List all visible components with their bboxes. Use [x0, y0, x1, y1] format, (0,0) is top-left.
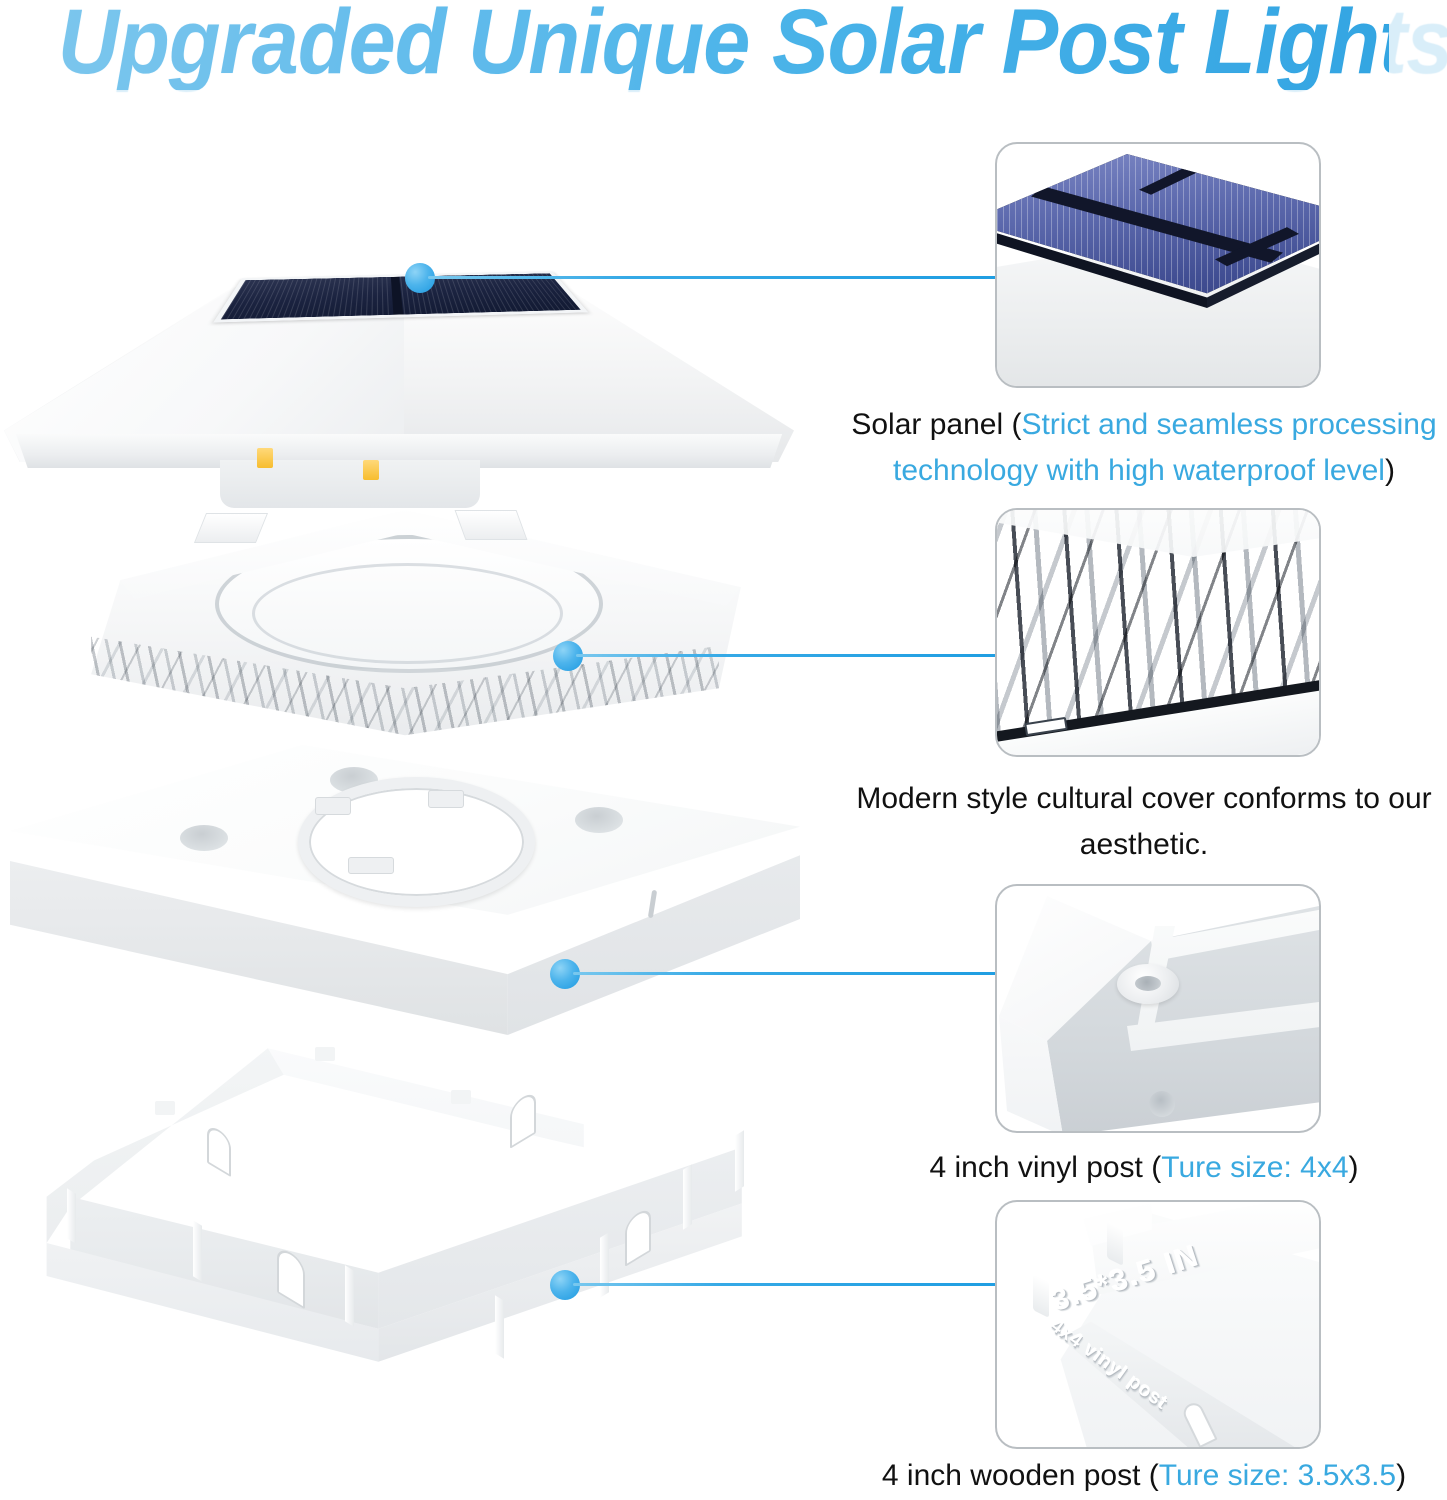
twist-lock-tab — [348, 857, 394, 874]
caption-cultural-cover-line1: Modern style cultural cover conforms to — [856, 782, 1380, 815]
part-base-plate — [10, 745, 800, 1035]
frame-rib — [495, 1295, 504, 1358]
callout-line-solar-panel — [428, 276, 998, 279]
frame-rib — [345, 1265, 354, 1326]
caption-wooden-post-suffix: ) — [1396, 1459, 1406, 1492]
twist-lock-tab — [315, 797, 351, 815]
frame-rib — [67, 1188, 76, 1243]
callout-line-vinyl-post — [573, 972, 998, 975]
glass-tab — [455, 510, 528, 540]
emboss-macro-tab — [1033, 1274, 1049, 1318]
caption-wooden-post-hl: Ture size: 3.5x3.5 — [1159, 1459, 1396, 1492]
twist-lock-tab — [428, 790, 464, 808]
product-infographic: Upgraded Unique Solar Post Lights — [0, 0, 1447, 1500]
frame-rib — [683, 1164, 692, 1229]
inset-wooden-post-stage: 3.5*3.5 IN 4x4 vinyl post — [997, 1202, 1319, 1447]
callout-line-cultural-cover — [576, 654, 998, 657]
caption-vinyl-post-prefix: 4 inch vinyl post ( — [929, 1151, 1161, 1184]
frame-corner-tab — [155, 1101, 175, 1115]
glass-tab — [194, 513, 268, 543]
caption-vinyl-post-suffix: ) — [1349, 1151, 1359, 1184]
underside-macro-boss-hole — [1135, 976, 1161, 991]
underside-macro-drain-hole — [1149, 1091, 1175, 1117]
caption-solar-panel-hl1: Strict and seamless processing — [1021, 408, 1436, 441]
caption-wooden-post: 4 inch wooden post (Ture size: 3.5x3.5) — [848, 1456, 1440, 1496]
caption-solar-panel-plain1: Solar panel ( — [851, 408, 1021, 441]
screw-hole — [180, 825, 228, 851]
callout-line-wooden-post — [573, 1283, 998, 1286]
inset-vinyl-post-stage — [997, 886, 1319, 1131]
page-title: Upgraded Unique Solar Post Lights — [58, 0, 1389, 90]
inset-cultural-cover — [995, 508, 1321, 757]
caption-solar-panel: Solar panel (Strict and seamless process… — [848, 402, 1440, 494]
caption-solar-panel-hl2: technology with high waterproof level — [893, 454, 1385, 487]
inset-cultural-cover-stage — [997, 510, 1319, 755]
caption-vinyl-post-hl: Ture size: 4x4 — [1161, 1151, 1348, 1184]
screw-hole — [575, 807, 623, 833]
inset-solar-panel — [995, 142, 1321, 388]
inset-vinyl-post — [995, 884, 1321, 1133]
frame-corner-tab — [451, 1090, 471, 1104]
caption-wooden-post-prefix: 4 inch wooden post ( — [882, 1459, 1159, 1492]
cap-solar-cells — [221, 273, 581, 319]
frame-rib — [600, 1232, 609, 1297]
part-adapter-frame — [15, 1045, 805, 1375]
part-glass-shade — [40, 505, 770, 740]
inset-solar-panel-stage — [997, 144, 1319, 386]
frame-rib — [193, 1220, 202, 1281]
caption-solar-panel-plain2: ) — [1385, 454, 1395, 487]
caption-vinyl-post: 4 inch vinyl post (Ture size: 4x4) — [848, 1148, 1440, 1188]
emboss-macro-tab — [1107, 1220, 1123, 1266]
frame-rib — [735, 1130, 744, 1191]
inset-wooden-post: 3.5*3.5 IN 4x4 vinyl post — [995, 1200, 1321, 1449]
frame-corner-tab — [315, 1047, 335, 1061]
led-chip — [257, 448, 273, 468]
caption-cultural-cover: Modern style cultural cover conforms to … — [848, 776, 1440, 868]
led-chip — [363, 460, 379, 480]
glass-inner-ring-inner — [252, 563, 563, 664]
